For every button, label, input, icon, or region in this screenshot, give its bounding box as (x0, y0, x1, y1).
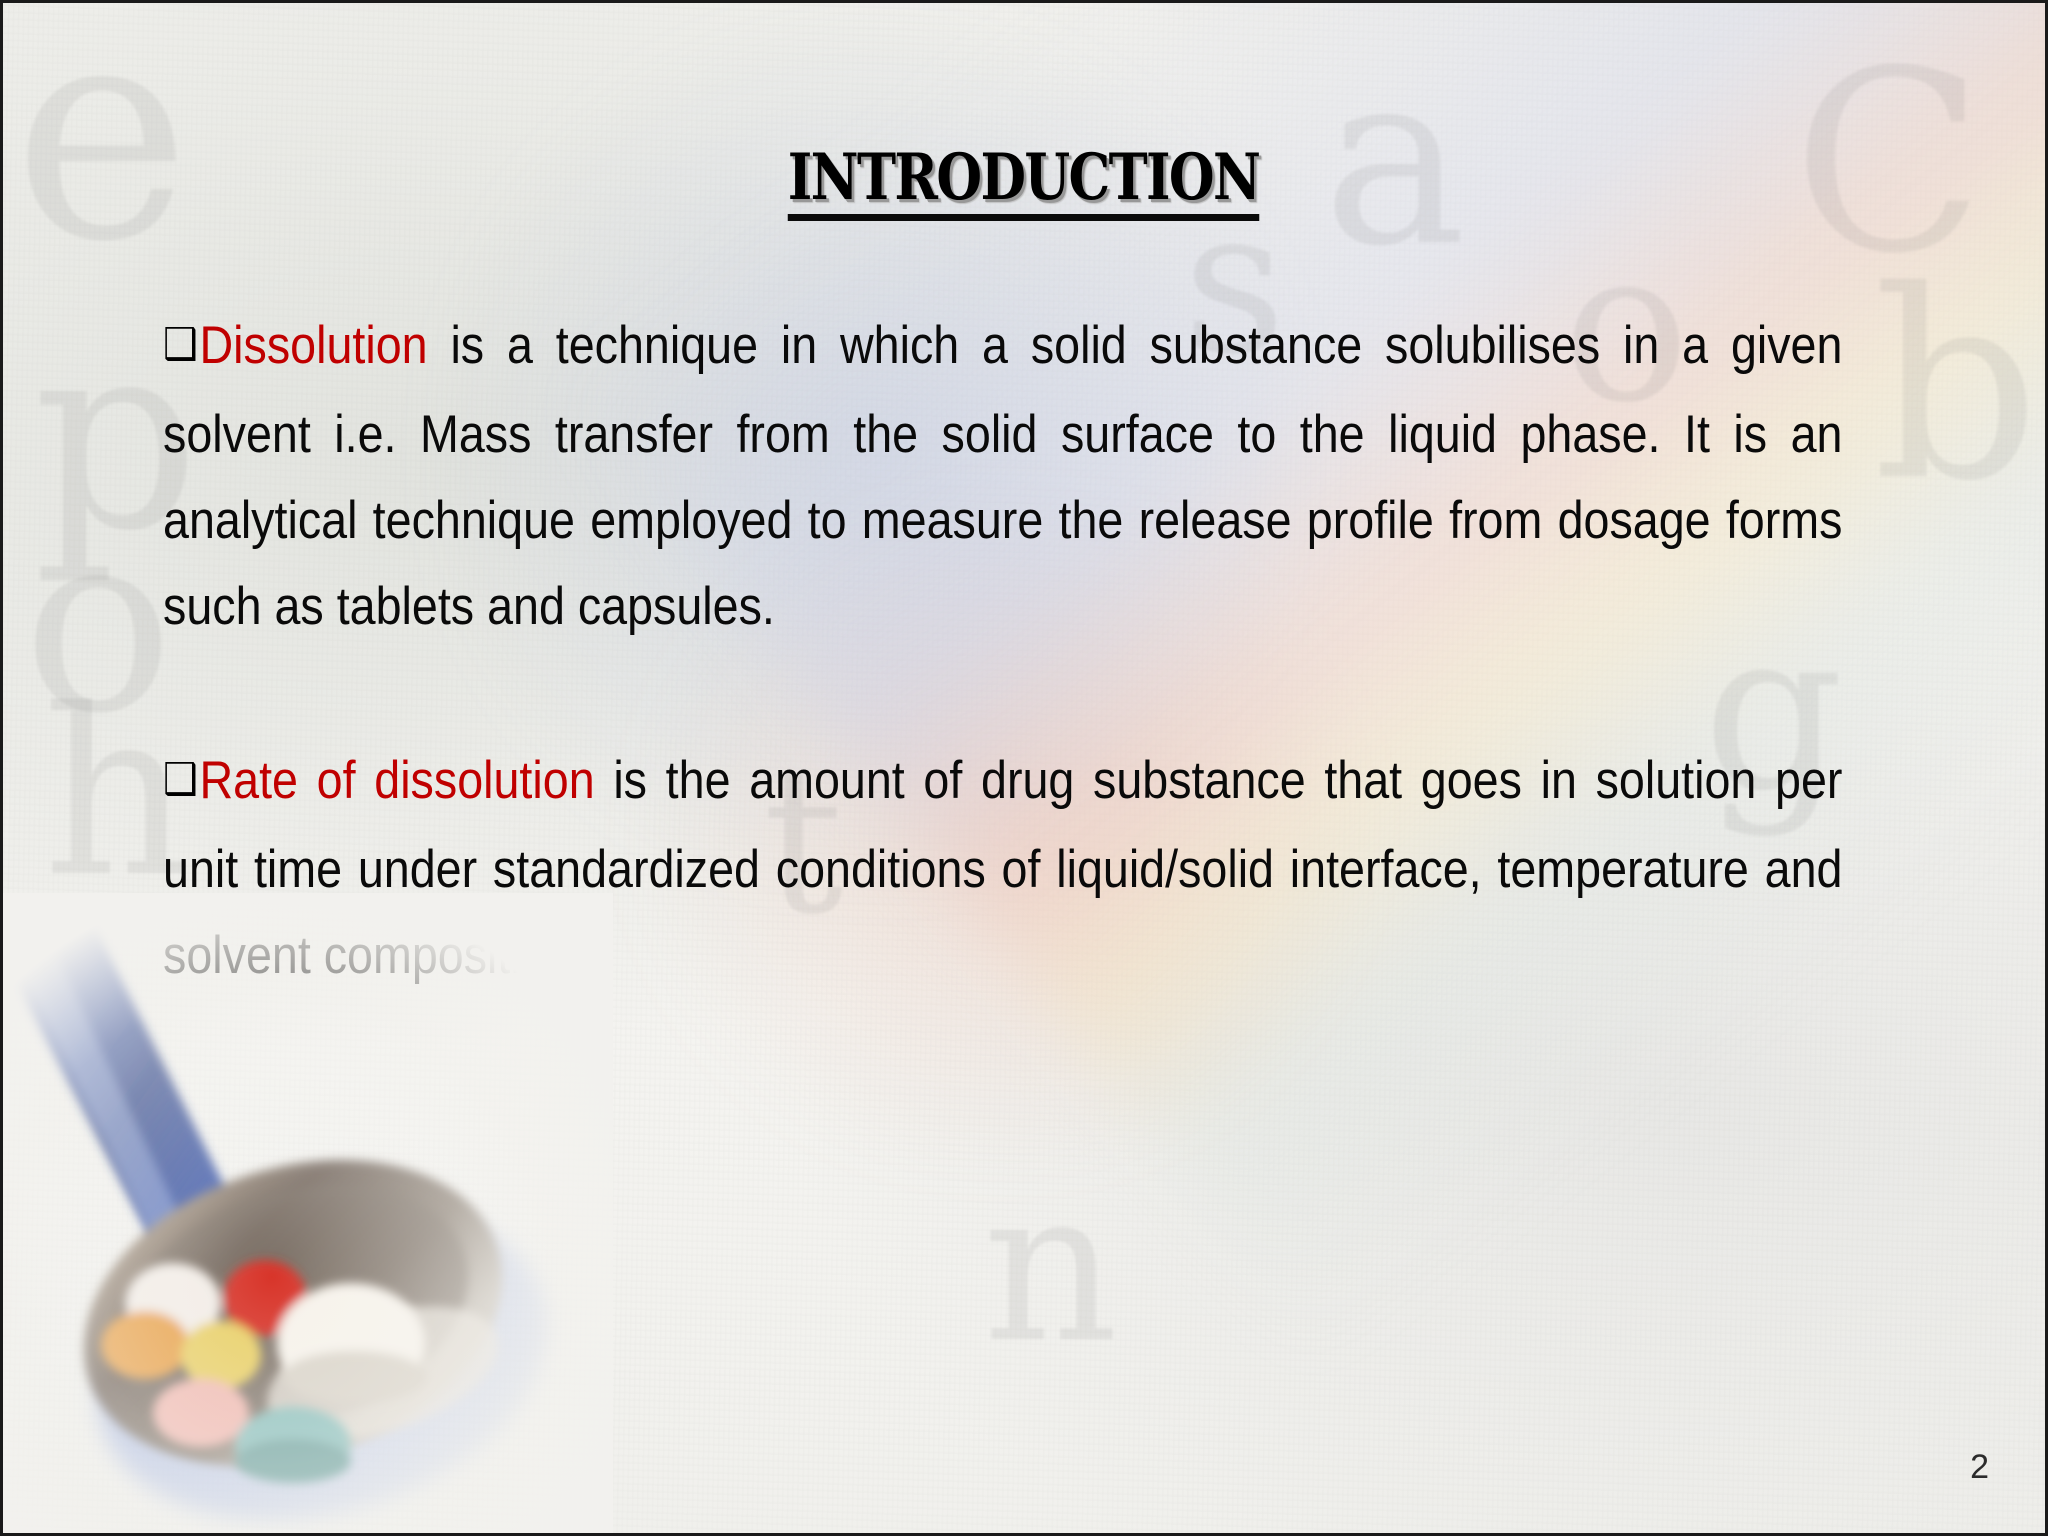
slide-body: ❑Dissolution is a technique in which a s… (163, 303, 1843, 999)
presentation-slide: epohabCogstn INTRODUCTION ❑Dissolution i… (0, 0, 2048, 1536)
square-bullet-icon: ❑ (163, 319, 199, 370)
square-bullet-icon: ❑ (163, 754, 199, 805)
highlight-term-rate-of-dissolution: Rate of dissolution (199, 751, 594, 810)
highlight-term-dissolution: Dissolution (199, 316, 427, 375)
bullet-paragraph-1: ❑Dissolution is a technique in which a s… (163, 303, 1842, 650)
page-number: 2 (1970, 1448, 1989, 1487)
slide-title: INTRODUCTION (788, 145, 1260, 221)
title-container: INTRODUCTION (3, 145, 2045, 221)
bullet-paragraph-2: ❑Rate of dissolution is the amount of dr… (163, 738, 1842, 999)
